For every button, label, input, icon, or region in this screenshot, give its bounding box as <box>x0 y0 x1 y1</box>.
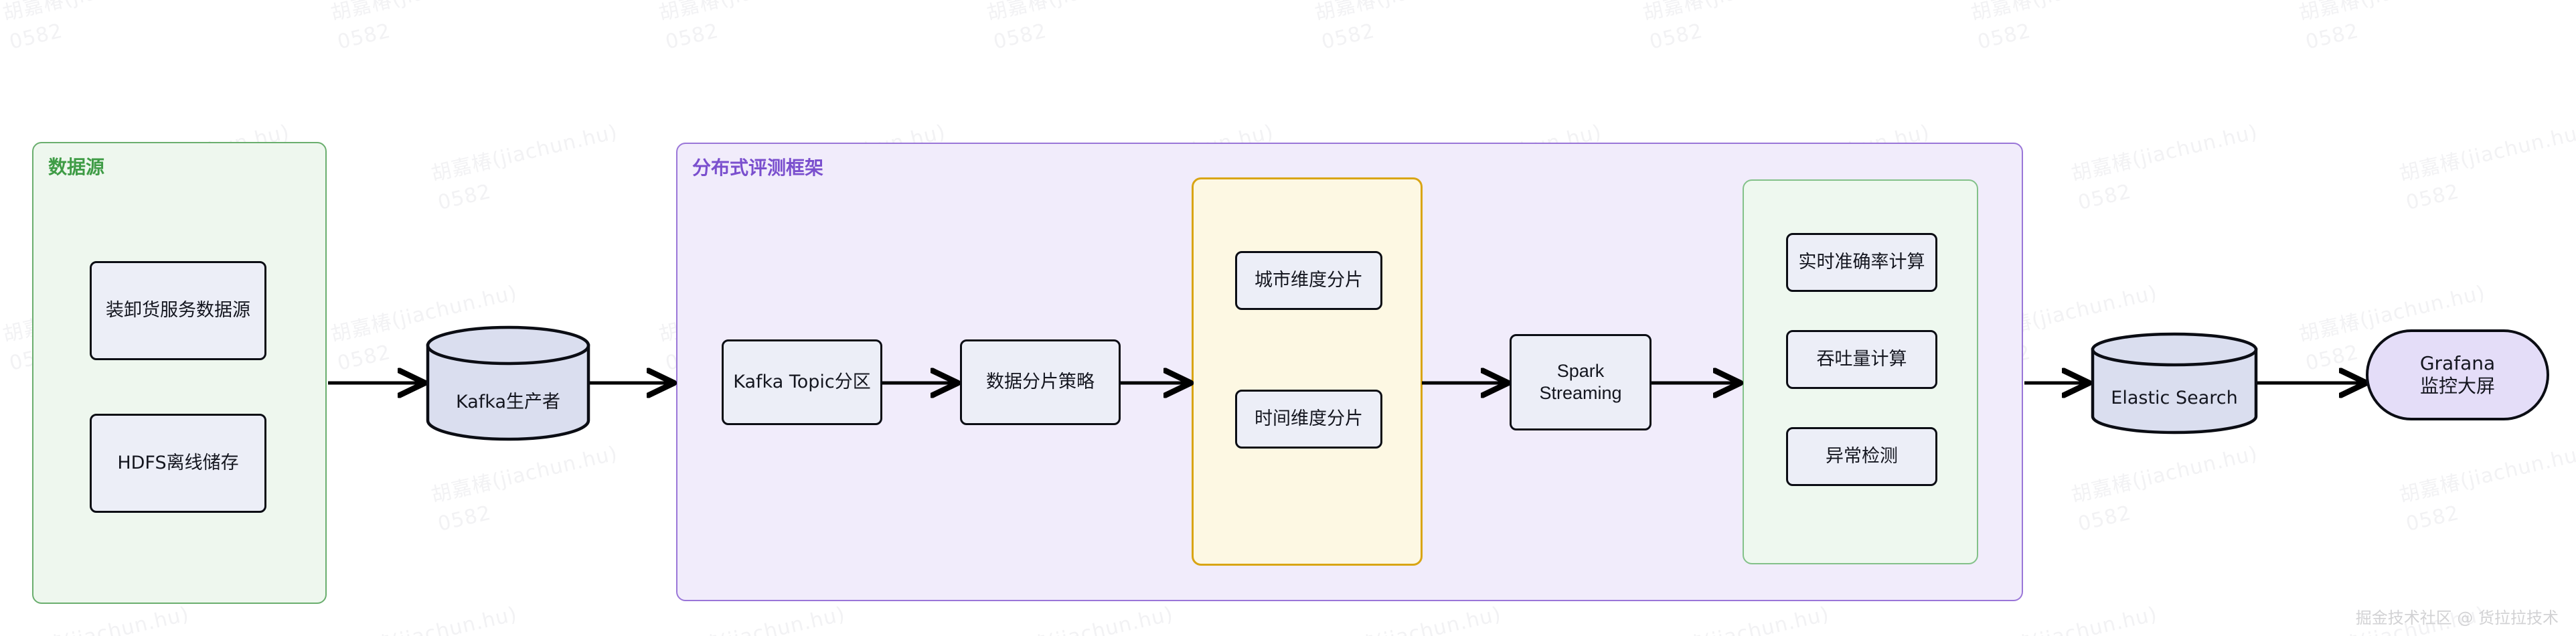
node-city-dimension-shard[interactable]: 城市维度分片 <box>1235 251 1382 310</box>
node-hdfs-offline-storage-label: HDFS离线储存 <box>117 453 238 475</box>
node-spark-streaming[interactable]: Spark Streaming <box>1510 334 1652 430</box>
node-throughput-calc-label: 吞吐量计算 <box>1817 349 1907 371</box>
node-data-sharding-strategy[interactable]: 数据分片策略 <box>960 339 1121 425</box>
watermark-text: 胡嘉椿(jiachun.hu)0582 <box>1968 600 2167 636</box>
watermark-text: 胡嘉椿(jiachun.hu)0582 <box>1968 0 2167 57</box>
subgraph-data-source: 数据源 <box>32 142 327 604</box>
subgraph-framework-title: 分布式评测框架 <box>692 153 823 180</box>
node-grafana-dashboard-label-line2: 监控大屏 <box>2420 375 2495 398</box>
node-realtime-accuracy-calc-label: 实时准确率计算 <box>1799 252 1925 274</box>
watermark-text: 胡嘉椿(jiachun.hu)0582 <box>428 439 627 539</box>
node-elastic-search[interactable]: Elastic Search <box>2090 332 2259 434</box>
watermark-text: 胡嘉椿(jiachun.hu)0582 <box>984 0 1183 57</box>
diagram-canvas: 胡嘉椿(jiachun.hu)0582胡嘉椿(jiachun.hu)0582胡嘉… <box>0 0 2576 636</box>
subgraph-data-source-title: 数据源 <box>48 153 104 179</box>
watermark-text: 胡嘉椿(jiachun.hu)0582 <box>2069 439 2267 539</box>
node-time-dimension-shard[interactable]: 时间维度分片 <box>1235 390 1382 449</box>
node-data-sharding-strategy-label: 数据分片策略 <box>986 372 1095 394</box>
watermark-text: 胡嘉椿(jiachun.hu)0582 <box>2397 439 2576 539</box>
subgraph-sharding-dimensions <box>1192 177 1423 566</box>
node-realtime-accuracy-calc[interactable]: 实时准确率计算 <box>1786 233 1937 292</box>
node-time-dimension-shard-label: 时间维度分片 <box>1255 408 1363 430</box>
watermark-text: 胡嘉椿(jiachun.hu)0582 <box>0 600 199 636</box>
node-kafka-producer-label: Kafka生产者 <box>425 360 591 441</box>
node-anomaly-detection[interactable]: 异常检测 <box>1786 427 1937 486</box>
node-city-dimension-shard-label: 城市维度分片 <box>1255 270 1363 292</box>
watermark-text: 胡嘉椿(jiachun.hu)0582 <box>2397 118 2576 218</box>
node-spark-streaming-label-line1: Spark <box>1557 360 1605 382</box>
node-grafana-dashboard-label-line1: Grafana <box>2420 352 2495 375</box>
watermark-text: 胡嘉椿(jiachun.hu)0582 <box>1640 600 1839 636</box>
node-grafana-dashboard[interactable]: Grafana 监控大屏 <box>2366 329 2549 420</box>
node-hdfs-offline-storage[interactable]: HDFS离线储存 <box>90 414 266 513</box>
node-anomaly-detection-label: 异常检测 <box>1826 446 1898 468</box>
footer-credit: 掘金技术社区 @ 货拉拉技术 <box>2356 605 2559 628</box>
watermark-text: 胡嘉椿(jiachun.hu)0582 <box>656 0 855 57</box>
watermark-text: 胡嘉椿(jiachun.hu)0582 <box>1312 0 1511 57</box>
node-kafka-topic-partition-label: Kafka Topic分区 <box>733 372 870 394</box>
node-loading-service-source[interactable]: 装卸货服务数据源 <box>90 261 266 360</box>
watermark-text: 胡嘉椿(jiachun.hu)0582 <box>328 600 527 636</box>
node-kafka-topic-partition[interactable]: Kafka Topic分区 <box>722 339 882 425</box>
node-loading-service-source-label: 装卸货服务数据源 <box>106 300 250 322</box>
node-kafka-producer[interactable]: Kafka生产者 <box>425 325 591 441</box>
watermark-text: 胡嘉椿(jiachun.hu)0582 <box>1640 0 1839 57</box>
watermark-text: 胡嘉椿(jiachun.hu)0582 <box>984 600 1183 636</box>
watermark-text: 胡嘉椿(jiachun.hu)0582 <box>656 600 855 636</box>
node-throughput-calc[interactable]: 吞吐量计算 <box>1786 330 1937 389</box>
watermark-text: 胡嘉椿(jiachun.hu)0582 <box>1312 600 1511 636</box>
watermark-text: 胡嘉椿(jiachun.hu)0582 <box>428 118 627 218</box>
watermark-text: 胡嘉椿(jiachun.hu)0582 <box>0 0 199 57</box>
node-elastic-search-label: Elastic Search <box>2090 363 2259 434</box>
watermark-text: 胡嘉椿(jiachun.hu)0582 <box>2069 118 2267 218</box>
watermark-text: 胡嘉椿(jiachun.hu)0582 <box>328 0 527 57</box>
node-spark-streaming-label-line2: Streaming <box>1539 382 1621 404</box>
watermark-text: 胡嘉椿(jiachun.hu)0582 <box>2296 0 2495 57</box>
